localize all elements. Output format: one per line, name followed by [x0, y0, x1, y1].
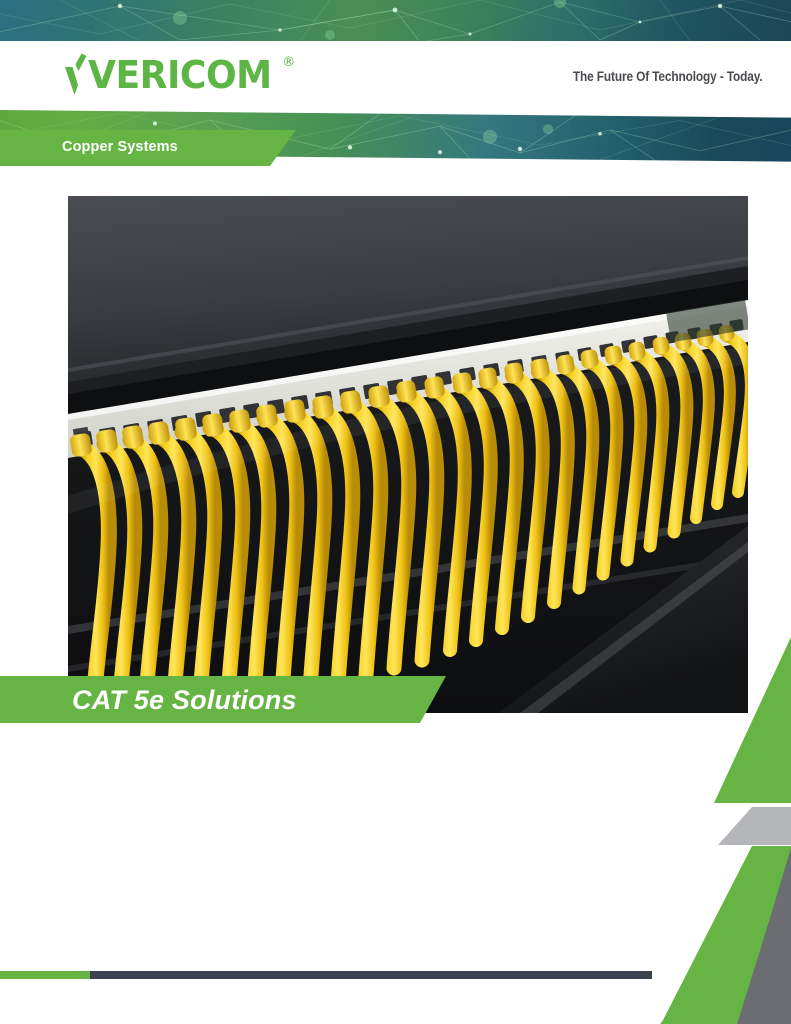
- hero-title: CAT 5e Solutions: [72, 685, 297, 716]
- brochure-page: VERICOM ® The Future Of Technology - Tod…: [0, 0, 791, 1024]
- category-ribbon-label: Copper Systems: [62, 139, 178, 155]
- patch-panel-illustration: [68, 196, 748, 713]
- vericom-logo[interactable]: VERICOM ®: [62, 53, 295, 99]
- green-parallelogram-large: [660, 846, 791, 1024]
- brand-tagline: The Future Of Technology - Today.: [573, 69, 763, 84]
- gray-parallelogram-band: [718, 807, 791, 845]
- category-ribbon: Copper Systems: [0, 130, 296, 166]
- network-pattern-top: [0, 0, 791, 41]
- footer-rule-green: [0, 971, 90, 979]
- footer-rule-dark: [90, 971, 652, 979]
- hero-photo: [68, 196, 748, 713]
- top-network-band: [0, 0, 791, 41]
- dark-gray-parallelogram: [737, 852, 791, 1024]
- registered-trademark-icon: ®: [282, 55, 295, 71]
- hero-title-banner: CAT 5e Solutions: [0, 676, 446, 723]
- logo-row: VERICOM ® The Future Of Technology - Tod…: [0, 41, 791, 110]
- logo-wordmark: VERICOM: [88, 53, 272, 97]
